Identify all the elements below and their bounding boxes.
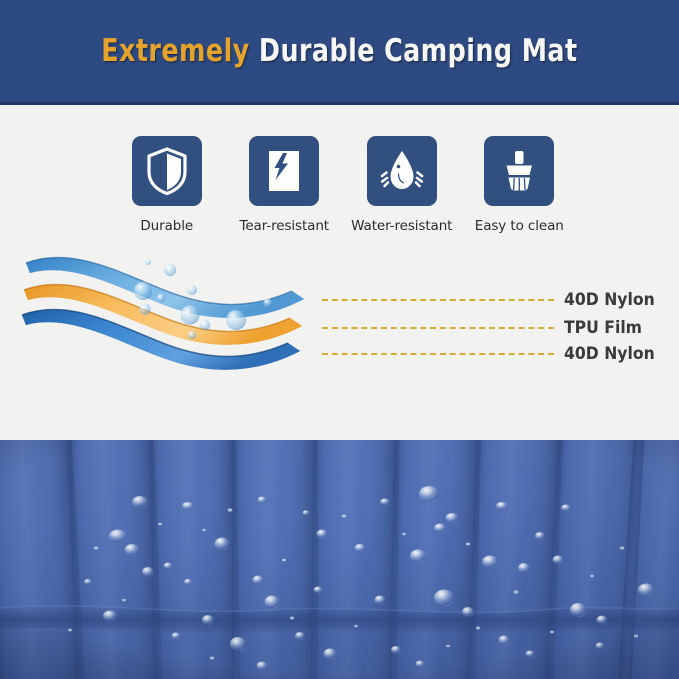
- page-title: Extremely Durable Camping Mat: [101, 33, 577, 69]
- header-banner: Extremely Durable Camping Mat: [0, 0, 679, 105]
- layer-label-row: TPU Film: [322, 318, 679, 338]
- feature-durable[interactable]: Durable: [108, 136, 226, 234]
- title-accent-word: Extremely: [101, 33, 249, 69]
- leader-dash-line: [322, 299, 554, 301]
- feature-icon-tile: [484, 136, 554, 206]
- feature-icon-tile: [249, 136, 319, 206]
- brush-icon: [496, 146, 542, 196]
- content-panel: Durable Tear-resistant: [0, 105, 679, 440]
- layer-label: 40D Nylon: [564, 290, 655, 310]
- tear-page-icon: [261, 146, 307, 196]
- feature-water-resistant[interactable]: Water-resistant: [343, 136, 461, 234]
- product-infographic: Extremely Durable Camping Mat Durable: [0, 0, 679, 679]
- shield-icon: [144, 146, 190, 196]
- feature-icon-tile: [367, 136, 437, 206]
- leader-dash-line: [322, 353, 554, 355]
- feature-label: Water-resistant: [351, 218, 452, 234]
- leader-dash-line: [322, 327, 554, 329]
- feature-label: Tear-resistant: [240, 218, 329, 234]
- feature-label: Easy to clean: [475, 218, 564, 234]
- title-main-text: Durable Camping Mat: [259, 33, 578, 69]
- layer-label-row: 40D Nylon: [322, 290, 679, 310]
- feature-easy-to-clean[interactable]: Easy to clean: [461, 136, 579, 234]
- feature-row: Durable Tear-resistant: [108, 136, 578, 234]
- layer-label-leaders: 40D Nylon TPU Film 40D Nylon: [322, 290, 679, 390]
- water-drop-icon: [378, 146, 426, 196]
- layer-label: 40D Nylon: [564, 344, 655, 364]
- feature-label: Durable: [140, 218, 193, 234]
- layer-label-row: 40D Nylon: [322, 344, 679, 364]
- feature-icon-tile: [132, 136, 202, 206]
- mat-surface-illustration: [0, 440, 679, 679]
- feature-tear-resistant[interactable]: Tear-resistant: [226, 136, 344, 234]
- layer-label: TPU Film: [564, 318, 642, 338]
- fabric-layer-diagram: [0, 243, 360, 418]
- camping-mat-water-beading-photo: [0, 440, 679, 679]
- layer-stack-illustration: [0, 243, 360, 418]
